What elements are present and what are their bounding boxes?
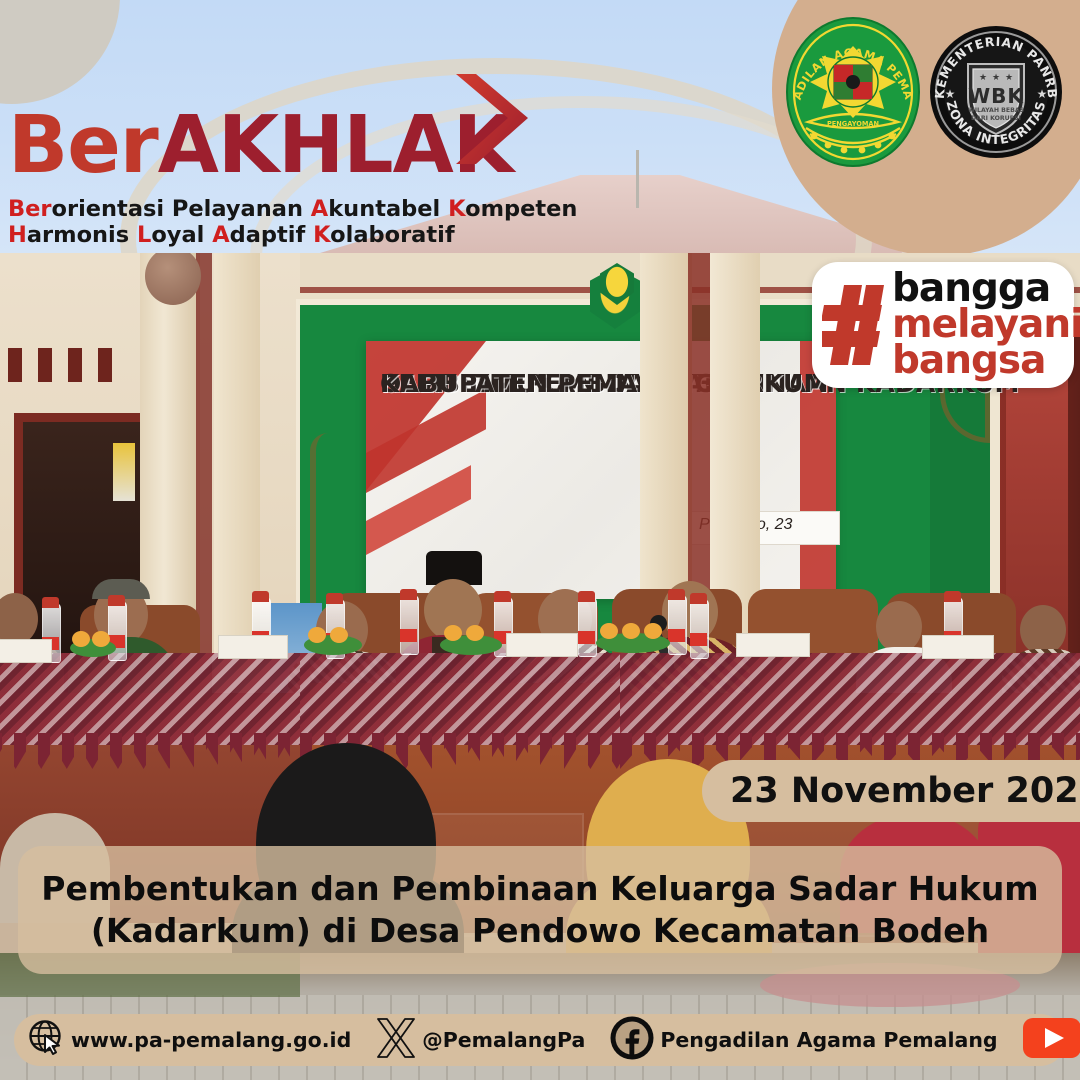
kementerian-panrb-wbk-seal: KEMENTERIAN PANRB ZONA INTEGRITAS ★ ★ ★ … [928,24,1064,160]
svg-text:★: ★ [945,87,956,101]
footer-website-label: www.pa-pemalang.go.id [71,1028,351,1052]
svg-text:★: ★ [979,72,987,82]
berakhlak-wordmark: BerAKHLAK [8,106,513,185]
footer-item-website[interactable]: www.pa-pemalang.go.id [28,1019,351,1062]
gray-circle-decoration [0,0,120,104]
event-date-badge: 23 November 2023 [702,760,1080,822]
facebook-icon [609,1015,655,1066]
caption-line-1: Pembentukan dan Pembinaan Keluarga Sadar… [41,868,1038,910]
poster-canvas: PEMBENTUKAN DAN PEMBINAAN KADARKUM OLEH … [0,0,1080,1080]
tagline-line-2: Harmonis Loyal Adaptif Kolaboratif [8,222,577,248]
berakhlak-taglines: Berorientasi Pelayanan Akuntabel Kompete… [8,196,577,249]
globe-cursor-icon [28,1019,66,1062]
svg-text:★: ★ [1037,87,1048,101]
footer-item-facebook[interactable]: Pengadilan Agama Pemalang [609,1015,997,1066]
svg-text:★: ★ [992,72,1000,82]
svg-text:DARI KORUPSI: DARI KORUPSI [971,115,1021,122]
red-hashtag-icon [822,283,884,367]
svg-text:WILAYAH BEBAS: WILAYAH BEBAS [968,107,1024,114]
berakhlak-ber: Ber [8,99,158,191]
header-band: BerAKHLAK Berorientasi Pelayanan Akuntab… [0,0,1080,253]
svg-text:WBK: WBK [968,84,1024,108]
event-title-caption: Pembentukan dan Pembinaan Keluarga Sadar… [18,846,1062,974]
footer-item-youtube[interactable]: Pengadilan Agama Pemalang [1022,1017,1080,1064]
svg-text:PENGAYOMAN: PENGAYOMAN [827,120,879,128]
footer-x-label: @PemalangPa [422,1028,585,1052]
bangga-line-3: bangsa [892,343,1080,379]
institution-logos: PENGADILAN AGAMA PEMALANG PENGAYOMAN [784,16,1064,168]
pengadilan-agama-pemalang-seal: PENGADILAN AGAMA PEMALANG PENGAYOMAN [784,16,922,168]
x-twitter-icon [375,1016,417,1065]
youtube-icon [1022,1017,1080,1064]
tagline-line-1: Berorientasi Pelayanan Akuntabel Kompete… [8,196,577,222]
svg-text:★: ★ [1005,72,1013,82]
bangga-melayani-bangsa-badge: bangga melayani bangsa [812,262,1074,388]
footer-facebook-label: Pengadilan Agama Pemalang [660,1028,997,1052]
caption-line-2: (Kadarkum) di Desa Pendowo Kecamatan Bod… [91,910,989,952]
footer-item-x[interactable]: @PemalangPa [375,1016,585,1065]
social-footer-bar: www.pa-pemalang.go.id @PemalangPa [14,1014,1066,1066]
